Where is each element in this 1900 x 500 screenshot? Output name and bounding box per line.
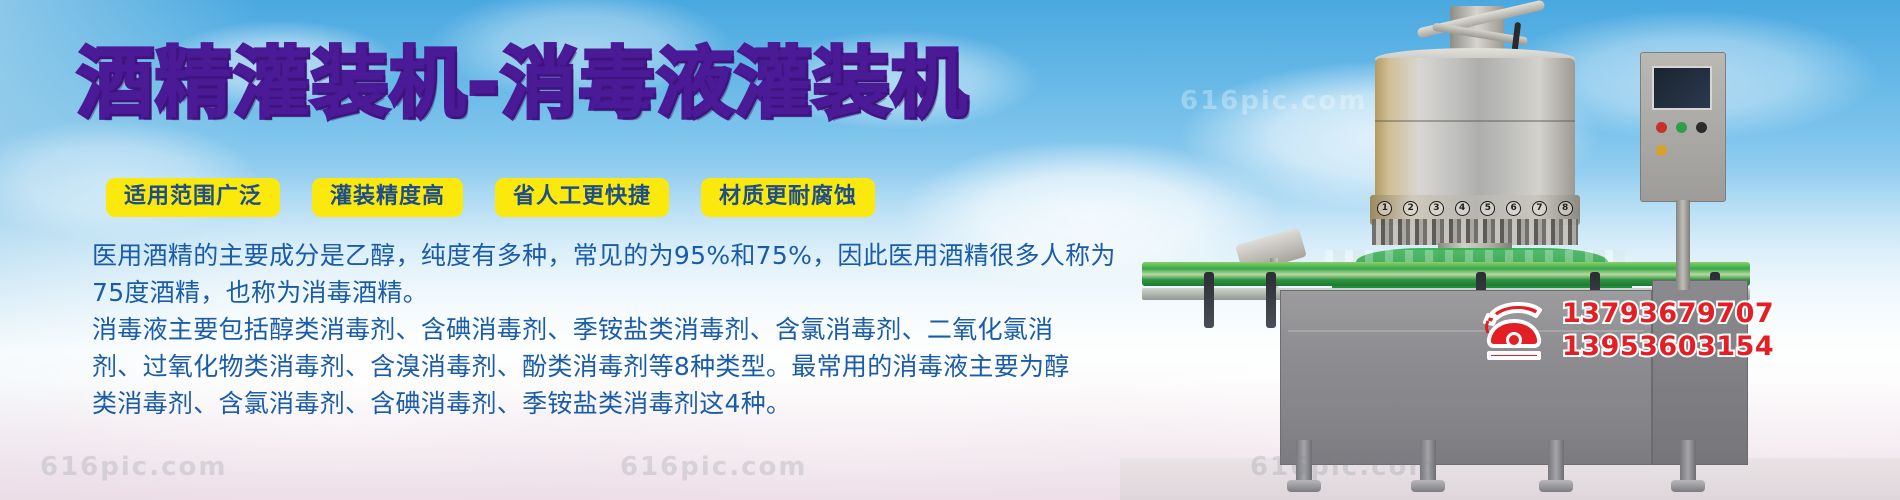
machine-rail-clamp xyxy=(1266,272,1276,328)
control-button-black xyxy=(1696,122,1707,133)
machine-leg xyxy=(1420,440,1436,482)
promo-banner: 1 2 3 4 5 6 7 8 xyxy=(0,0,1900,500)
description-text: 医用酒精的主要成分是乙醇，纯度有多种，常见的为95%和75%，因此医用酒精很多人… xyxy=(92,237,1102,422)
station-number: 3 xyxy=(1429,201,1444,216)
machine-station-numbers: 1 2 3 4 5 6 7 8 xyxy=(1372,197,1578,219)
machine-rail-clamp xyxy=(1204,272,1214,328)
phone-number[interactable]: 13793679707 xyxy=(1562,298,1774,330)
station-number: 4 xyxy=(1455,201,1470,216)
station-number: 1 xyxy=(1377,201,1392,216)
station-number: 5 xyxy=(1480,201,1495,216)
phone-number-list: 13793679707 13953603154 xyxy=(1562,298,1774,363)
feature-badge: 省人工更快捷 xyxy=(495,178,669,217)
machine-leg xyxy=(1296,440,1312,482)
machine-drum-seam xyxy=(1375,120,1575,122)
station-number: 2 xyxy=(1403,201,1418,216)
page-title: 酒精灌装机-消毒液灌装机 xyxy=(78,46,970,122)
machine-control-stand xyxy=(1676,200,1690,290)
machine-control-screen xyxy=(1652,66,1712,110)
control-button-red xyxy=(1656,122,1667,133)
station-number: 8 xyxy=(1558,201,1573,216)
description-line: 医用酒精的主要成分是乙醇，纯度有多种，常见的为95%和75%，因此医用酒精很多人… xyxy=(92,237,1102,274)
phone-number[interactable]: 13953603154 xyxy=(1562,331,1774,363)
control-button-amber xyxy=(1656,145,1667,156)
description-line: 消毒液主要包括醇类消毒剂、含碘消毒剂、季铵盐类消毒剂、含氯消毒剂、二氧化氯消 xyxy=(92,311,1102,348)
feature-badge: 适用范围广泛 xyxy=(106,178,280,217)
machine-foot xyxy=(1671,480,1705,492)
machine-drum xyxy=(1375,58,1575,208)
telephone-icon xyxy=(1480,299,1548,361)
machine-foot xyxy=(1539,480,1573,492)
station-number: 7 xyxy=(1532,201,1547,216)
description-line: 75度酒精，也称为消毒酒精。 xyxy=(92,274,1102,311)
machine-foot xyxy=(1287,480,1321,492)
station-number: 6 xyxy=(1506,201,1521,216)
contact-phone-block[interactable]: 13793679707 13953603154 xyxy=(1480,298,1774,363)
description-line: 类消毒剂、含氯消毒剂、含碘消毒剂、季铵盐类消毒剂这4种。 xyxy=(92,385,1102,422)
machine-filling-nozzles xyxy=(1372,219,1578,245)
control-button-green xyxy=(1676,122,1687,133)
feature-badge-list: 适用范围广泛 灌装精度高 省人工更快捷 材质更耐腐蚀 xyxy=(106,178,875,217)
filling-machine-image: 1 2 3 4 5 6 7 8 xyxy=(1120,0,1900,500)
machine-foot xyxy=(1411,480,1445,492)
description-line: 剂、过氧化物类消毒剂、含溴消毒剂、酚类消毒剂等8种类型。最常用的消毒液主要为醇 xyxy=(92,348,1102,385)
feature-badge: 材质更耐腐蚀 xyxy=(701,178,875,217)
feature-badge: 灌装精度高 xyxy=(312,178,463,217)
machine-leg xyxy=(1548,440,1564,482)
machine-leg xyxy=(1680,440,1696,482)
